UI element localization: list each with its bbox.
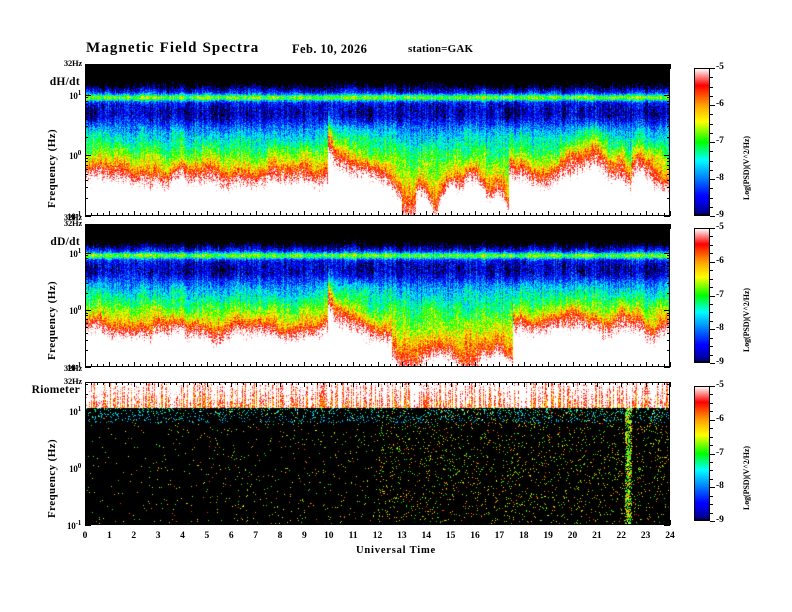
y-tick-mark <box>85 468 91 469</box>
x-tick-mark <box>292 364 293 367</box>
x-tick-mark <box>603 522 604 525</box>
colorbar-minor-tick <box>710 245 713 246</box>
colorbar-tick-label--7: -7 <box>716 290 724 300</box>
x-tick-mark <box>603 224 604 227</box>
x-tick-mark <box>298 364 299 367</box>
x-tick-mark <box>304 64 305 69</box>
colorbar-minor-tick <box>710 304 713 305</box>
x-tick-mark <box>353 224 354 229</box>
x-tick-mark <box>341 213 342 216</box>
x-tick-mark <box>542 382 543 385</box>
y-tick-mark <box>85 420 88 421</box>
x-tick-mark <box>621 520 622 525</box>
x-tick-mark <box>183 362 184 367</box>
x-tick-mark <box>457 64 458 67</box>
x-tick-mark <box>256 382 257 387</box>
x-tick-mark <box>426 362 427 367</box>
x-tick-mark <box>91 364 92 367</box>
x-tick-mark <box>103 213 104 216</box>
x-tick-label-12: 12 <box>366 531 390 541</box>
colorbar-minor-tick <box>710 114 713 115</box>
x-tick-mark <box>390 64 391 67</box>
panel-frame <box>85 382 670 525</box>
x-tick-mark <box>189 224 190 227</box>
x-tick-mark <box>116 224 117 227</box>
colorbar-minor-tick <box>710 179 713 180</box>
x-tick-mark <box>445 213 446 216</box>
x-tick-mark <box>408 522 409 525</box>
colorbar-minor-tick <box>710 445 713 446</box>
x-tick-mark <box>256 224 257 229</box>
x-tick-mark <box>329 211 330 216</box>
y-tick-mark <box>667 104 670 105</box>
x-tick-mark <box>317 522 318 525</box>
x-tick-mark <box>621 362 622 367</box>
y-tick-mark <box>664 95 670 96</box>
colorbar-minor-tick <box>710 151 713 152</box>
y-tick-mark <box>667 101 670 102</box>
x-tick-mark <box>286 64 287 67</box>
x-tick-mark <box>432 364 433 367</box>
x-tick-mark <box>231 64 232 69</box>
colorbar-minor-tick <box>710 262 713 263</box>
x-tick-mark <box>402 211 403 216</box>
x-tick-mark <box>91 382 92 385</box>
x-tick-mark <box>646 382 647 387</box>
y-tick-mark <box>85 155 91 156</box>
x-tick-mark <box>170 213 171 216</box>
x-tick-mark <box>201 213 202 216</box>
x-tick-mark <box>304 520 305 525</box>
x-tick-mark <box>237 364 238 367</box>
x-tick-mark <box>499 382 500 387</box>
colorbar-minor-tick <box>710 329 713 330</box>
colorbar-tick-label--9: -9 <box>716 357 724 367</box>
x-tick-mark <box>311 213 312 216</box>
x-tick-mark <box>176 224 177 227</box>
x-tick-mark <box>371 64 372 67</box>
spectrogram-panel-dhdt <box>85 64 670 216</box>
x-tick-mark <box>323 522 324 525</box>
y-axis-title-dddt: Frequency (Hz) <box>46 281 58 360</box>
x-tick-mark <box>426 64 427 69</box>
x-tick-mark <box>560 224 561 227</box>
y-tick-mark <box>85 158 88 159</box>
x-tick-mark <box>426 520 427 525</box>
x-tick-mark <box>329 224 330 229</box>
x-tick-mark <box>335 522 336 525</box>
x-tick-mark <box>384 364 385 367</box>
x-tick-mark <box>591 522 592 525</box>
x-tick-mark <box>597 64 598 69</box>
x-tick-mark <box>103 522 104 525</box>
x-tick-mark <box>201 364 202 367</box>
x-tick-mark <box>518 213 519 216</box>
y-tick-mark <box>667 187 670 188</box>
x-tick-mark <box>420 364 421 367</box>
x-tick-mark <box>128 522 129 525</box>
y-tick-mark <box>664 310 670 311</box>
y-tick-mark <box>85 126 88 127</box>
y-tick-mark <box>667 323 670 324</box>
x-tick-mark <box>530 213 531 216</box>
x-tick-mark <box>652 224 653 227</box>
x-tick-mark <box>152 522 153 525</box>
panel-frame <box>85 224 670 367</box>
x-tick-mark <box>396 213 397 216</box>
x-tick-mark <box>493 213 494 216</box>
x-tick-mark <box>402 362 403 367</box>
y-tick-mark <box>85 276 88 277</box>
x-tick-mark <box>554 213 555 216</box>
x-tick-mark <box>615 213 616 216</box>
x-tick-mark <box>445 382 446 385</box>
x-tick-mark <box>627 64 628 67</box>
colorbar-minor-tick <box>710 403 713 404</box>
x-tick-mark <box>518 64 519 67</box>
x-tick-mark <box>512 382 513 385</box>
spectrogram-panel-riometer <box>85 382 670 525</box>
y-tick-mark <box>667 174 670 175</box>
y-tick-mark <box>85 491 88 492</box>
x-tick-mark <box>609 364 610 367</box>
x-tick-mark <box>597 520 598 525</box>
y-tick-mark <box>667 198 670 199</box>
y-tick-mark <box>667 66 670 67</box>
y-tick-mark <box>667 471 670 472</box>
x-tick-mark <box>384 64 385 67</box>
x-tick-mark <box>152 364 153 367</box>
y-tick-mark <box>667 428 670 429</box>
x-tick-mark <box>438 224 439 227</box>
y-tick-label-0: 100 <box>53 304 81 316</box>
x-tick-mark <box>109 362 110 367</box>
x-tick-mark <box>347 382 348 385</box>
y-tick-mark <box>667 481 670 482</box>
colorbar-minor-tick <box>710 386 713 387</box>
x-tick-mark <box>591 224 592 227</box>
x-tick-mark <box>311 64 312 67</box>
x-tick-mark <box>548 520 549 525</box>
x-tick-mark <box>152 382 153 385</box>
x-tick-mark <box>91 522 92 525</box>
x-tick-label-24: 24 <box>658 531 682 541</box>
x-tick-mark <box>378 64 379 69</box>
x-tick-mark <box>573 211 574 216</box>
y-tick-mark <box>667 266 670 267</box>
x-tick-mark <box>286 224 287 227</box>
y-tick-mark <box>85 270 88 271</box>
x-tick-mark <box>457 224 458 227</box>
x-tick-mark <box>359 213 360 216</box>
y-tick-label-0: 100 <box>53 149 81 161</box>
x-tick-mark <box>469 64 470 67</box>
x-tick-mark <box>506 64 507 67</box>
x-tick-mark <box>164 224 165 227</box>
x-tick-mark <box>414 364 415 367</box>
x-tick-mark <box>493 64 494 67</box>
x-tick-mark <box>585 224 586 227</box>
x-tick-mark <box>524 520 525 525</box>
x-tick-mark <box>646 520 647 525</box>
x-tick-mark <box>408 364 409 367</box>
nyquist-label-top-0: 32Hz <box>20 58 82 68</box>
x-tick-mark <box>164 213 165 216</box>
x-tick-mark <box>371 213 372 216</box>
colorbar-minor-tick <box>710 161 713 162</box>
x-tick-mark <box>371 224 372 227</box>
x-tick-mark <box>280 362 281 367</box>
x-tick-mark <box>140 64 141 67</box>
x-tick-mark <box>116 382 117 385</box>
x-tick-mark <box>573 382 574 387</box>
x-tick-mark <box>658 382 659 385</box>
x-tick-mark <box>512 213 513 216</box>
x-tick-mark <box>122 522 123 525</box>
x-tick-mark <box>268 382 269 385</box>
x-tick-label-20: 20 <box>561 531 585 541</box>
panel-label-dhdt: dH/dt <box>0 76 80 88</box>
colorbar-minor-tick <box>710 363 713 364</box>
x-tick-mark <box>670 520 671 525</box>
x-tick-mark <box>554 522 555 525</box>
y-tick-mark <box>85 411 91 412</box>
x-tick-mark <box>256 362 257 367</box>
x-tick-mark <box>627 522 628 525</box>
y-tick-mark <box>85 108 88 109</box>
y-tick-mark <box>85 262 88 263</box>
x-tick-mark <box>164 382 165 385</box>
x-tick-mark <box>432 224 433 227</box>
x-tick-mark <box>170 522 171 525</box>
x-tick-mark <box>487 213 488 216</box>
x-tick-mark <box>146 382 147 385</box>
x-tick-mark <box>609 64 610 67</box>
colorbar-minor-tick <box>710 411 713 412</box>
x-tick-mark <box>243 364 244 367</box>
x-tick-mark <box>280 224 281 229</box>
x-tick-mark <box>225 382 226 385</box>
y-tick-label--1: 10-1 <box>53 210 81 222</box>
x-tick-mark <box>219 64 220 67</box>
colorbar-minor-tick <box>710 170 713 171</box>
y-tick-mark <box>85 283 88 284</box>
y-tick-mark <box>664 468 670 469</box>
x-tick-mark <box>359 522 360 525</box>
y-tick-mark <box>667 158 670 159</box>
x-tick-mark <box>298 522 299 525</box>
x-tick-mark <box>390 224 391 227</box>
x-tick-mark <box>457 522 458 525</box>
x-tick-mark <box>176 213 177 216</box>
x-tick-mark <box>603 213 604 216</box>
x-tick-mark <box>219 224 220 227</box>
y-tick-mark <box>667 441 670 442</box>
x-tick-mark <box>286 522 287 525</box>
x-tick-mark <box>195 213 196 216</box>
y-tick-mark <box>85 473 88 474</box>
y-tick-mark <box>667 76 670 77</box>
x-tick-mark <box>286 382 287 385</box>
x-tick-mark <box>487 224 488 227</box>
x-tick-mark <box>189 382 190 385</box>
x-tick-label-4: 4 <box>171 531 195 541</box>
y-tick-mark <box>667 420 670 421</box>
colorbar-minor-tick <box>710 470 713 471</box>
colorbar-minor-tick <box>710 253 713 254</box>
x-tick-mark <box>189 522 190 525</box>
x-tick-mark <box>189 64 190 67</box>
colorbar-minor-tick <box>710 513 713 514</box>
x-tick-mark <box>451 520 452 525</box>
x-tick-label-7: 7 <box>244 531 268 541</box>
x-tick-mark <box>237 213 238 216</box>
x-axis-title: Universal Time <box>0 545 792 556</box>
x-tick-mark <box>378 211 379 216</box>
x-tick-mark <box>512 522 513 525</box>
x-tick-mark <box>250 213 251 216</box>
x-tick-mark <box>91 64 92 67</box>
x-tick-mark <box>268 522 269 525</box>
x-tick-mark <box>274 382 275 385</box>
x-tick-mark <box>420 224 421 227</box>
x-tick-mark <box>554 64 555 67</box>
x-tick-mark <box>414 522 415 525</box>
x-tick-mark <box>103 382 104 385</box>
x-tick-mark <box>579 522 580 525</box>
colorbar-minor-tick <box>710 236 713 237</box>
x-tick-mark <box>128 382 129 385</box>
x-tick-mark <box>554 224 555 227</box>
colorbar-minor-tick <box>710 96 713 97</box>
x-tick-mark <box>207 64 208 69</box>
x-tick-mark <box>146 64 147 67</box>
y-tick-mark <box>667 473 670 474</box>
x-tick-mark <box>621 224 622 229</box>
x-tick-mark <box>396 382 397 385</box>
x-tick-label-2: 2 <box>122 531 146 541</box>
x-tick-mark <box>170 364 171 367</box>
x-tick-mark <box>640 522 641 525</box>
y-tick-mark <box>85 76 88 77</box>
x-tick-mark <box>347 64 348 67</box>
y-tick-label-1: 101 <box>53 405 81 417</box>
x-tick-mark <box>548 382 549 387</box>
x-tick-mark <box>134 382 135 387</box>
x-tick-mark <box>359 382 360 385</box>
x-tick-mark <box>225 522 226 525</box>
y-tick-mark <box>85 97 88 98</box>
y-tick-mark <box>667 270 670 271</box>
x-tick-mark <box>530 522 531 525</box>
x-tick-mark <box>225 213 226 216</box>
x-tick-mark <box>603 64 604 67</box>
x-tick-mark <box>201 64 202 67</box>
x-tick-mark <box>164 64 165 67</box>
x-tick-mark <box>109 224 110 229</box>
x-tick-mark <box>311 522 312 525</box>
y-tick-mark <box>85 481 88 482</box>
x-tick-mark <box>140 522 141 525</box>
x-tick-mark <box>542 522 543 525</box>
x-tick-mark <box>347 364 348 367</box>
y-tick-mark <box>85 441 88 442</box>
x-tick-mark <box>414 382 415 385</box>
x-tick-mark <box>438 213 439 216</box>
y-tick-mark <box>85 471 88 472</box>
colorbar-minor-tick <box>710 77 713 78</box>
x-tick-mark <box>499 211 500 216</box>
x-tick-mark <box>530 64 531 67</box>
x-tick-mark <box>183 382 184 387</box>
y-tick-mark <box>667 477 670 478</box>
x-tick-mark <box>134 362 135 367</box>
x-tick-mark <box>225 64 226 67</box>
x-tick-mark <box>97 522 98 525</box>
x-tick-mark <box>633 382 634 385</box>
x-tick-mark <box>609 213 610 216</box>
x-tick-mark <box>219 213 220 216</box>
y-tick-mark <box>85 508 88 509</box>
x-tick-mark <box>499 224 500 229</box>
x-tick-mark <box>384 213 385 216</box>
x-tick-mark <box>627 224 628 227</box>
x-tick-mark <box>274 522 275 525</box>
x-tick-label-1: 1 <box>97 531 121 541</box>
x-tick-mark <box>341 364 342 367</box>
x-tick-mark <box>591 382 592 385</box>
x-tick-mark <box>640 364 641 367</box>
x-tick-mark <box>579 382 580 385</box>
x-tick-mark <box>566 64 567 67</box>
x-tick-mark <box>317 64 318 67</box>
x-tick-mark <box>384 224 385 227</box>
x-tick-mark <box>378 382 379 387</box>
x-tick-mark <box>487 382 488 385</box>
colorbar-tick-label--5: -5 <box>716 222 724 232</box>
y-tick-label--1: 10-1 <box>53 519 81 531</box>
x-tick-mark <box>207 382 208 387</box>
y-tick-mark <box>85 198 88 199</box>
x-tick-mark <box>365 522 366 525</box>
x-tick-mark <box>615 364 616 367</box>
x-tick-mark <box>469 522 470 525</box>
x-tick-mark <box>371 382 372 385</box>
y-tick-mark <box>85 253 91 254</box>
y-tick-mark <box>85 477 88 478</box>
x-tick-mark <box>371 522 372 525</box>
x-tick-mark <box>548 224 549 229</box>
x-tick-mark <box>183 224 184 229</box>
x-tick-mark <box>292 382 293 385</box>
x-tick-mark <box>274 224 275 227</box>
x-tick-mark <box>176 364 177 367</box>
x-tick-mark <box>396 522 397 525</box>
y-tick-mark <box>85 428 88 429</box>
y-tick-mark <box>667 434 670 435</box>
x-tick-mark <box>493 364 494 367</box>
x-tick-mark <box>633 224 634 227</box>
x-tick-mark <box>359 364 360 367</box>
x-tick-mark <box>116 213 117 216</box>
x-tick-mark <box>176 382 177 385</box>
y-tick-mark <box>85 180 88 181</box>
x-tick-mark <box>402 224 403 229</box>
x-tick-label-21: 21 <box>585 531 609 541</box>
x-tick-mark <box>256 211 257 216</box>
x-tick-mark <box>463 364 464 367</box>
x-tick-mark <box>652 213 653 216</box>
